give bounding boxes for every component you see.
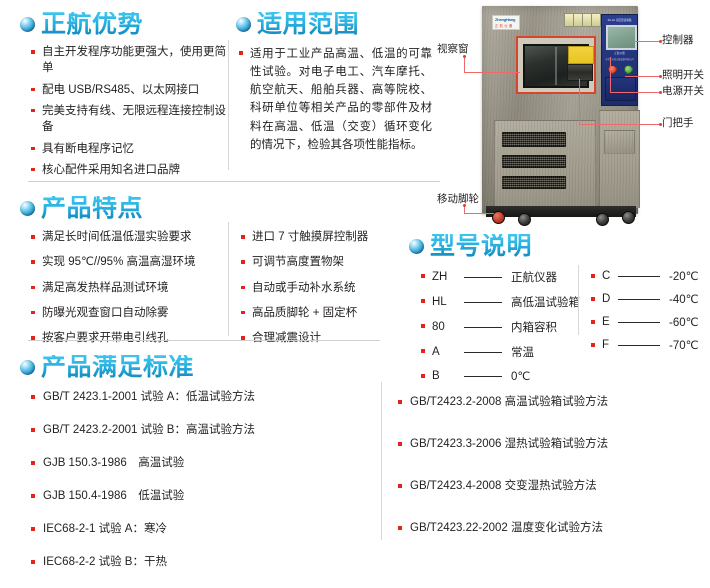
callout-leader-line bbox=[625, 76, 660, 77]
model-code: HL bbox=[432, 296, 462, 308]
model-row: 80 内箱容积 bbox=[420, 319, 580, 335]
list-item: 可调节高度置物架 bbox=[240, 254, 410, 270]
standards-list-right: GB/T2423.2-2008 高温试验箱试验方法 GB/T2423.3-200… bbox=[397, 395, 697, 563]
model-row: A 常温 bbox=[420, 344, 580, 360]
callout-label-door-handle: 门把手 bbox=[662, 118, 694, 129]
caster-wheel bbox=[622, 211, 635, 224]
brand-logo: ZhengHang 正 航 仪 器 bbox=[492, 15, 520, 30]
touchscreen-display[interactable] bbox=[606, 25, 637, 50]
list-item: 核心配件采用知名进口品牌 bbox=[30, 162, 226, 178]
list-item: GB/T2423.3-2006 湿热试验箱试验方法 bbox=[397, 437, 697, 452]
model-row: ZH 正航仪器 bbox=[420, 269, 580, 285]
list-item: GB/T2423.2-2008 高温试验箱试验方法 bbox=[397, 395, 697, 410]
model-code: F bbox=[602, 339, 616, 351]
model-code: B bbox=[432, 370, 462, 382]
section-standards-title: 产品满足标准 bbox=[41, 355, 194, 380]
callout-leader-line bbox=[464, 56, 465, 72]
list-item: 防曝光观查窗口自动除雾 bbox=[30, 305, 222, 321]
model-value: 内箱容积 bbox=[511, 319, 580, 335]
list-item: 自主开发程序功能更强大，使用更简单 bbox=[30, 44, 226, 77]
model-row: F -70℃ bbox=[590, 338, 705, 352]
dash-icon bbox=[618, 299, 660, 300]
standards-list-left: GB/T 2423.1-2001 试验 A：低温试验方法 GB/T 2423.2… bbox=[30, 390, 320, 588]
list-item: 自动或手动补水系统 bbox=[240, 280, 410, 296]
indicator-lamp bbox=[592, 14, 600, 26]
door-handle bbox=[567, 64, 593, 81]
list-item: 完美支持有线、无限远程连接控制设备 bbox=[30, 103, 226, 136]
indicator-lamp bbox=[565, 14, 574, 26]
dash-icon bbox=[464, 376, 502, 377]
callout-label-controller: 控制器 bbox=[662, 35, 694, 46]
section-advantage-heading: 正航优势 bbox=[20, 12, 143, 37]
list-item: 进口 7 寸触摸屏控制器 bbox=[240, 229, 410, 245]
list-item: GJB 150.4-1986 低温试验 bbox=[30, 489, 320, 504]
model-value: -60℃ bbox=[669, 315, 705, 329]
product-photo: ZhengHang 正 航 仪 器 ZH-HL 高低温试验箱 正航仪器 东莞市正… bbox=[440, 0, 710, 228]
ventilation-grille bbox=[502, 132, 566, 147]
list-item: 满足长时间低温低湿实验要求 bbox=[30, 229, 222, 245]
model-code: 80 bbox=[432, 321, 462, 333]
ventilation-grille bbox=[502, 155, 566, 168]
dash-icon bbox=[618, 345, 660, 346]
model-value: 高低温试验箱 bbox=[511, 294, 580, 310]
model-code: A bbox=[432, 346, 462, 358]
divider-vertical-features bbox=[228, 222, 229, 336]
model-row: E -60℃ bbox=[590, 315, 705, 329]
divider-vertical-standards bbox=[381, 382, 382, 540]
base-plate bbox=[486, 206, 636, 217]
model-value: -40℃ bbox=[669, 292, 705, 306]
bullet-orb-icon bbox=[236, 17, 251, 32]
callout-leader-line bbox=[464, 72, 520, 73]
brand-name-en: ZhengHang bbox=[495, 17, 515, 22]
section-model-heading: 型号说明 bbox=[409, 234, 532, 259]
dash-icon bbox=[618, 276, 660, 277]
model-row: D -40℃ bbox=[590, 292, 705, 306]
model-list-left: ZH 正航仪器 HL 高低温试验箱 80 内箱容积 A 常温 B 0℃ bbox=[420, 269, 580, 392]
callout-label-lighting-switch: 照明开关 bbox=[662, 70, 704, 81]
section-advantage-title: 正航优势 bbox=[41, 12, 143, 37]
model-value: 常温 bbox=[511, 344, 580, 360]
list-item: 具有断电程序记忆 bbox=[30, 141, 226, 157]
divider-horizontal-2 bbox=[28, 340, 380, 341]
model-code: ZH bbox=[432, 271, 462, 283]
list-item: 高品质脚轮 + 固定杯 bbox=[240, 305, 410, 321]
list-item: 配电 USB/RS485、以太网接口 bbox=[30, 82, 226, 98]
divider-horizontal-1 bbox=[28, 181, 440, 182]
callout-dot bbox=[463, 55, 466, 58]
caster-wheel bbox=[596, 213, 609, 226]
product-spec-page: 正航优势 自主开发程序功能更强大，使用更简单 配电 USB/RS485、以太网接… bbox=[0, 0, 710, 550]
section-features-title: 产品特点 bbox=[41, 196, 143, 221]
indicator-strip bbox=[564, 13, 601, 27]
dash-icon bbox=[618, 322, 660, 323]
model-row: C -20℃ bbox=[590, 269, 705, 283]
model-code: E bbox=[602, 316, 616, 328]
bullet-orb-icon bbox=[20, 17, 35, 32]
callout-leader-line bbox=[464, 213, 494, 214]
model-code: C bbox=[602, 270, 616, 282]
list-item: GB/T2423.4-2008 交变湿热试验方法 bbox=[397, 479, 697, 494]
model-value: -70℃ bbox=[669, 338, 705, 352]
indicator-lamp bbox=[574, 14, 583, 26]
advantage-list: 自主开发程序功能更强大，使用更简单 配电 USB/RS485、以太网接口 完美支… bbox=[30, 44, 226, 183]
section-scope-heading: 适用范围 bbox=[236, 12, 359, 37]
callout-leader-line bbox=[628, 41, 660, 42]
callout-dot bbox=[659, 40, 662, 43]
bullet-orb-icon bbox=[20, 360, 35, 375]
callout-leader-line bbox=[610, 92, 660, 93]
section-features-heading: 产品特点 bbox=[20, 196, 143, 221]
bullet-orb-icon bbox=[20, 201, 35, 216]
callout-leader-line bbox=[579, 124, 660, 125]
scope-paragraph: 适用于工业产品高温、低温的可靠性试验。对电子电工、汽车摩托、航空航天、船舶兵器、… bbox=[238, 45, 432, 154]
divider-vertical-model bbox=[578, 265, 579, 335]
list-item: 合理减震设计 bbox=[240, 330, 410, 346]
warning-label bbox=[568, 46, 594, 64]
callout-label-caster: 移动脚轮 bbox=[437, 194, 479, 205]
list-item: GJB 150.3-1986 高温试验 bbox=[30, 456, 320, 471]
dash-icon bbox=[464, 327, 502, 328]
callout-dot bbox=[659, 75, 662, 78]
model-value: 0℃ bbox=[511, 369, 580, 383]
dash-icon bbox=[464, 352, 502, 353]
callout-label-viewing-window: 视察窗 bbox=[437, 44, 469, 55]
model-row: B 0℃ bbox=[420, 369, 580, 383]
section-model-title: 型号说明 bbox=[430, 234, 532, 259]
section-scope-title: 适用范围 bbox=[257, 12, 359, 37]
model-value: 正航仪器 bbox=[511, 269, 580, 285]
callout-leader-line bbox=[610, 57, 611, 93]
dash-icon bbox=[464, 277, 502, 278]
list-item: GB/T2423.22-2002 温度变化试验方法 bbox=[397, 521, 697, 536]
callout-leader-line bbox=[579, 79, 580, 125]
divider-vertical-top bbox=[228, 40, 229, 170]
features-list-right: 进口 7 寸触摸屏控制器 可调节高度置物架 自动或手动补水系统 高品质脚轮 + … bbox=[240, 229, 410, 356]
bullet-orb-icon bbox=[409, 239, 424, 254]
brand-name-cn: 正 航 仪 器 bbox=[495, 23, 513, 28]
model-list-right: C -20℃ D -40℃ E -60℃ F -70℃ bbox=[590, 269, 705, 361]
model-row: HL 高低温试验箱 bbox=[420, 294, 580, 310]
lighting-switch-button[interactable] bbox=[624, 65, 633, 74]
model-value: -20℃ bbox=[669, 269, 705, 283]
callout-dot bbox=[463, 204, 466, 207]
ventilation-grille bbox=[502, 176, 566, 189]
list-item: IEC68-2-2 试验 B：干热 bbox=[30, 555, 320, 570]
list-item: GB/T 2423.1-2001 试验 A：低温试验方法 bbox=[30, 390, 320, 405]
callout-dot bbox=[659, 123, 662, 126]
list-item: 按客户要求开带电引线孔 bbox=[30, 330, 222, 346]
list-item: IEC68-2-1 试验 A：寒冷 bbox=[30, 522, 320, 537]
callout-dot bbox=[659, 91, 662, 94]
model-code: D bbox=[602, 293, 616, 305]
list-item: GB/T 2423.2-2001 试验 B：高温试验方法 bbox=[30, 423, 320, 438]
side-access-hatch bbox=[604, 130, 635, 154]
features-list-left: 满足长时间低温低湿实验要求 实现 95℃//95% 高温高湿环境 满足高发热样品… bbox=[30, 229, 222, 356]
callout-label-power-switch: 电源开关 bbox=[662, 86, 704, 97]
section-standards-heading: 产品满足标准 bbox=[20, 355, 194, 380]
list-item: 实现 95℃//95% 高温高湿环境 bbox=[30, 254, 222, 270]
dash-icon bbox=[464, 302, 502, 303]
control-panel-title: ZH-HL 高低温试验箱 bbox=[605, 18, 634, 23]
list-item: 满足高发热样品测试环境 bbox=[30, 280, 222, 296]
control-panel-subtitle: 正航仪器 bbox=[605, 51, 634, 55]
indicator-lamp bbox=[583, 14, 592, 26]
caster-wheel bbox=[518, 213, 531, 226]
